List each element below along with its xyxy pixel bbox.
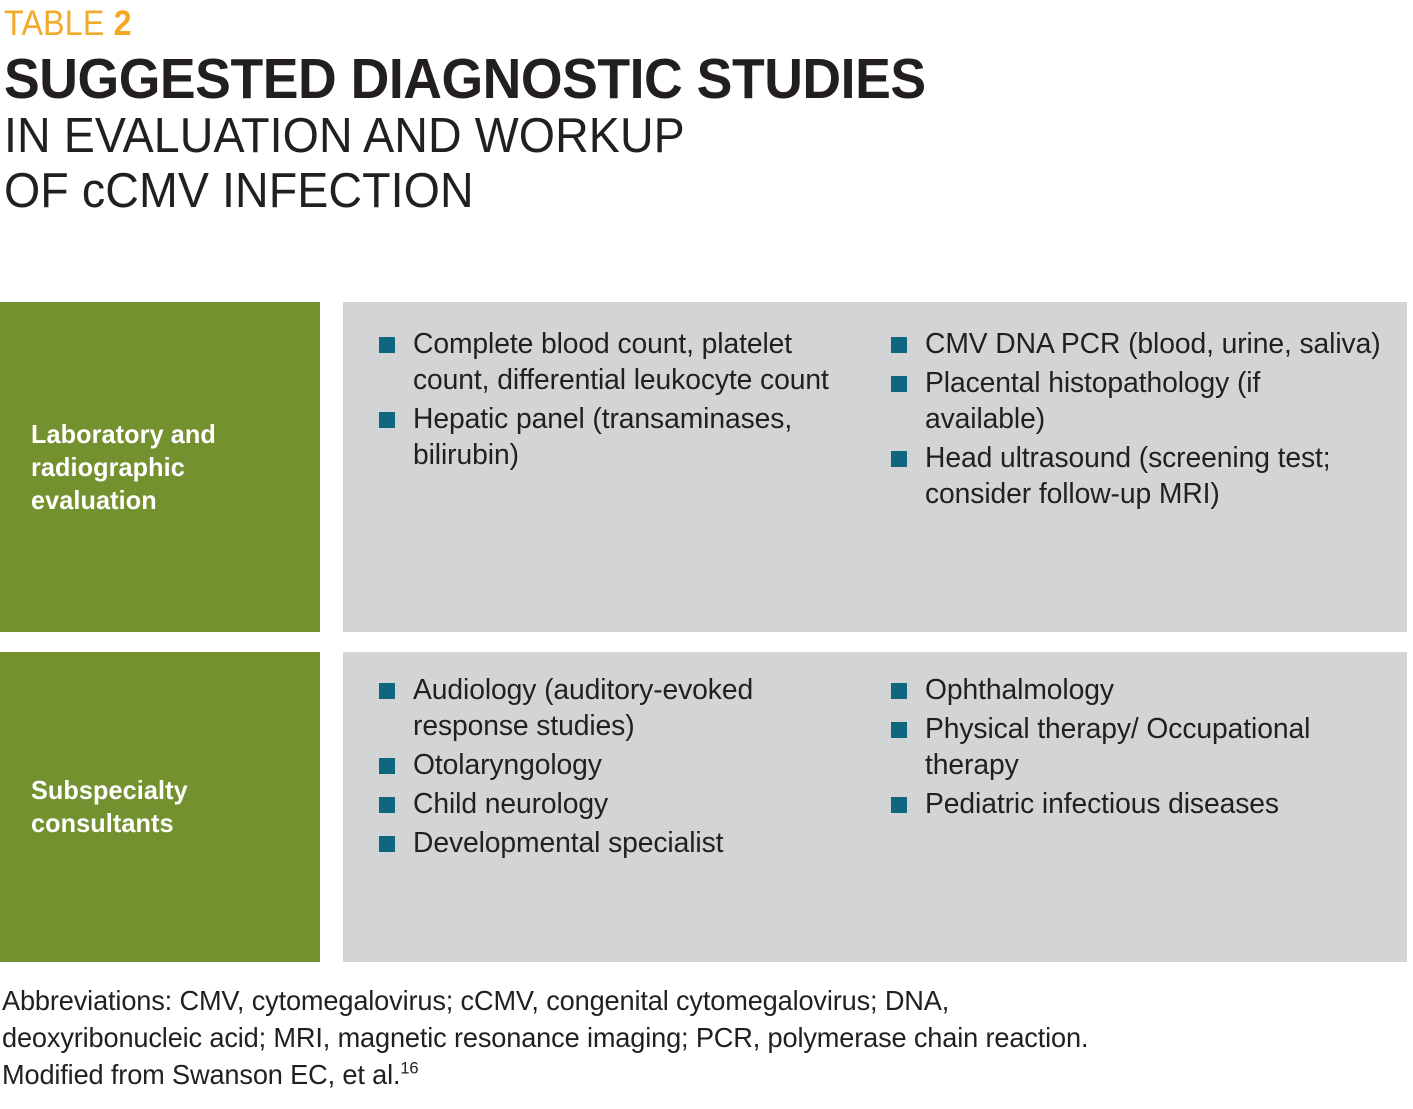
page-title: SUGGESTED DIAGNOSTIC STUDIES [4,50,1328,108]
cell-gap [320,302,343,632]
list-item: Placental histopathology (if available) [891,365,1393,437]
page-subtitle-line-1: IN EVALUATION AND WORKUP [4,110,1343,163]
row-label-cell: Laboratory and radiographic evaluation [0,302,320,632]
square-bullet-icon [891,797,907,813]
bullet-column-right: CMV DNA PCR (blood, urine, saliva) Place… [876,326,1399,610]
square-bullet-icon [379,337,395,353]
footnote-source-text: Modified from Swanson EC, et al. [2,1059,400,1090]
row-content-cell: Audiology (auditory-evoked response stud… [343,652,1407,962]
list-item-text: Audiology (auditory-evoked response stud… [413,672,864,744]
table-row: Laboratory and radiographic evaluation C… [0,302,1407,632]
footnote-line-1: Abbreviations: CMV, cytomegalovirus; cCM… [2,982,1365,1019]
footnote-reference-number: 16 [400,1059,418,1078]
list-item: CMV DNA PCR (blood, urine, saliva) [891,326,1393,362]
square-bullet-icon [379,412,395,428]
list-item: Pediatric infectious diseases [891,786,1393,822]
row-label-cell: Subspecialty consultants [0,652,320,962]
cell-gap [320,652,343,962]
list-item-text: CMV DNA PCR (blood, urine, saliva) [925,326,1381,362]
list-item-text: Pediatric infectious diseases [925,786,1381,822]
list-item: Otolaryngology [379,747,876,783]
list-item: Hepatic panel (transaminases, bilirubin) [379,401,876,473]
footnote-line-2: deoxyribonucleic acid; MRI, magnetic res… [2,1019,1365,1056]
square-bullet-icon [891,337,907,353]
list-item-text: Head ultrasound (screening test; conside… [925,440,1381,512]
table-figure: TABLE 2 SUGGESTED DIAGNOSTIC STUDIES IN … [0,0,1413,1109]
table-eyebrow-number: 2 [114,4,132,43]
bullet-column-left: Audiology (auditory-evoked response stud… [343,672,876,940]
diagnostic-studies-table: Laboratory and radiographic evaluation C… [0,302,1407,962]
list-item: Audiology (auditory-evoked response stud… [379,672,876,744]
row-label-text: Subspecialty consultants [31,774,311,840]
list-item: Child neurology [379,786,876,822]
footnote-line-3: Modified from Swanson EC, et al.16 [2,1056,1365,1093]
bullet-list: Ophthalmology Physical therapy/ Occupati… [891,672,1393,822]
bullet-list: Complete blood count, platelet count, di… [379,326,876,473]
square-bullet-icon [891,722,907,738]
bullet-column-left: Complete blood count, platelet count, di… [343,326,876,610]
square-bullet-icon [891,376,907,392]
list-item-text: Ophthalmology [925,672,1381,708]
list-item: Physical therapy/ Occupational therapy [891,711,1393,783]
square-bullet-icon [379,758,395,774]
list-item: Ophthalmology [891,672,1393,708]
figure-header: TABLE 2 SUGGESTED DIAGNOSTIC STUDIES IN … [0,0,1413,218]
square-bullet-icon [379,683,395,699]
square-bullet-icon [891,451,907,467]
list-item-text: Developmental specialist [413,825,864,861]
bullet-column-right: Ophthalmology Physical therapy/ Occupati… [876,672,1399,940]
square-bullet-icon [379,797,395,813]
list-item: Developmental specialist [379,825,876,861]
list-item-text: Child neurology [413,786,864,822]
list-item-text: Complete blood count, platelet count, di… [413,326,864,398]
row-label-text: Laboratory and radiographic evaluation [31,418,311,517]
page-subtitle-line-2: OF cCMV INFECTION [4,165,1343,218]
table-row: Subspecialty consultants Audiology (audi… [0,652,1407,962]
square-bullet-icon [379,836,395,852]
bullet-list: CMV DNA PCR (blood, urine, saliva) Place… [891,326,1393,512]
list-item-text: Otolaryngology [413,747,864,783]
list-item: Head ultrasound (screening test; conside… [891,440,1393,512]
list-item-text: Hepatic panel (transaminases, bilirubin) [413,401,864,473]
table-footnote: Abbreviations: CMV, cytomegalovirus; cCM… [2,982,1407,1093]
table-eyebrow-label: TABLE [4,4,105,43]
list-item-text: Physical therapy/ Occupational therapy [925,711,1381,783]
bullet-list: Audiology (auditory-evoked response stud… [379,672,876,861]
list-item-text: Placental histopathology (if available) [925,365,1381,437]
table-eyebrow: TABLE 2 [4,0,1300,44]
list-item: Complete blood count, platelet count, di… [379,326,876,398]
square-bullet-icon [891,683,907,699]
row-content-cell: Complete blood count, platelet count, di… [343,302,1407,632]
